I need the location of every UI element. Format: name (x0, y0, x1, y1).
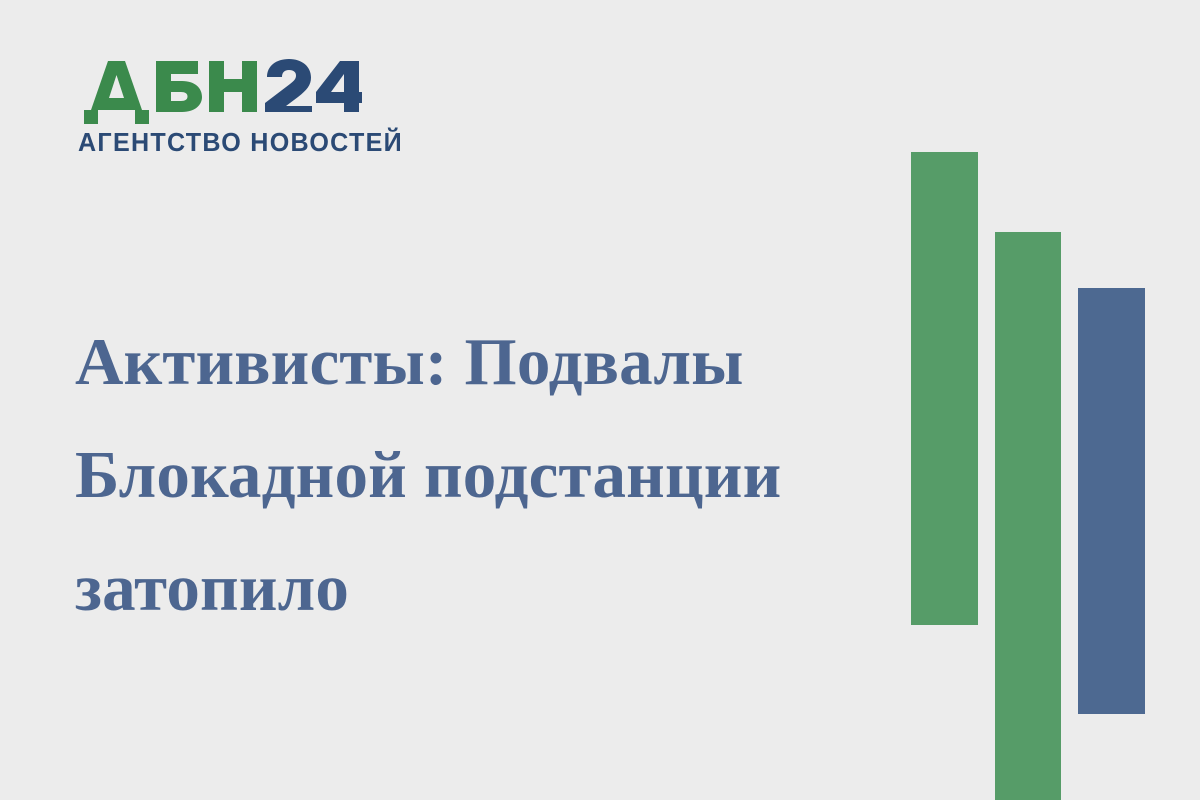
brand-tagline: АГЕНТСТВО НОВОСТЕЙ (78, 131, 374, 157)
decorative-bar-tall-green (911, 152, 978, 625)
brand-logo[interactable]: АГЕНТСТВО НОВОСТЕЙ (78, 58, 378, 157)
headline-line-2: Блокадной подстанции (75, 419, 875, 532)
article-headline: Активисты: Подвалы Блокадной подстанции … (75, 306, 875, 645)
headline-line-3: затопило (75, 532, 875, 645)
news-card: АГЕНТСТВО НОВОСТЕЙ Активисты: Подвалы Бл… (0, 0, 1200, 800)
decorative-bar-mid-green (995, 232, 1061, 800)
decorative-bar-short-blue (1078, 288, 1145, 714)
abn24-logo-icon (78, 58, 362, 124)
headline-line-1: Активисты: Подвалы (75, 306, 875, 419)
